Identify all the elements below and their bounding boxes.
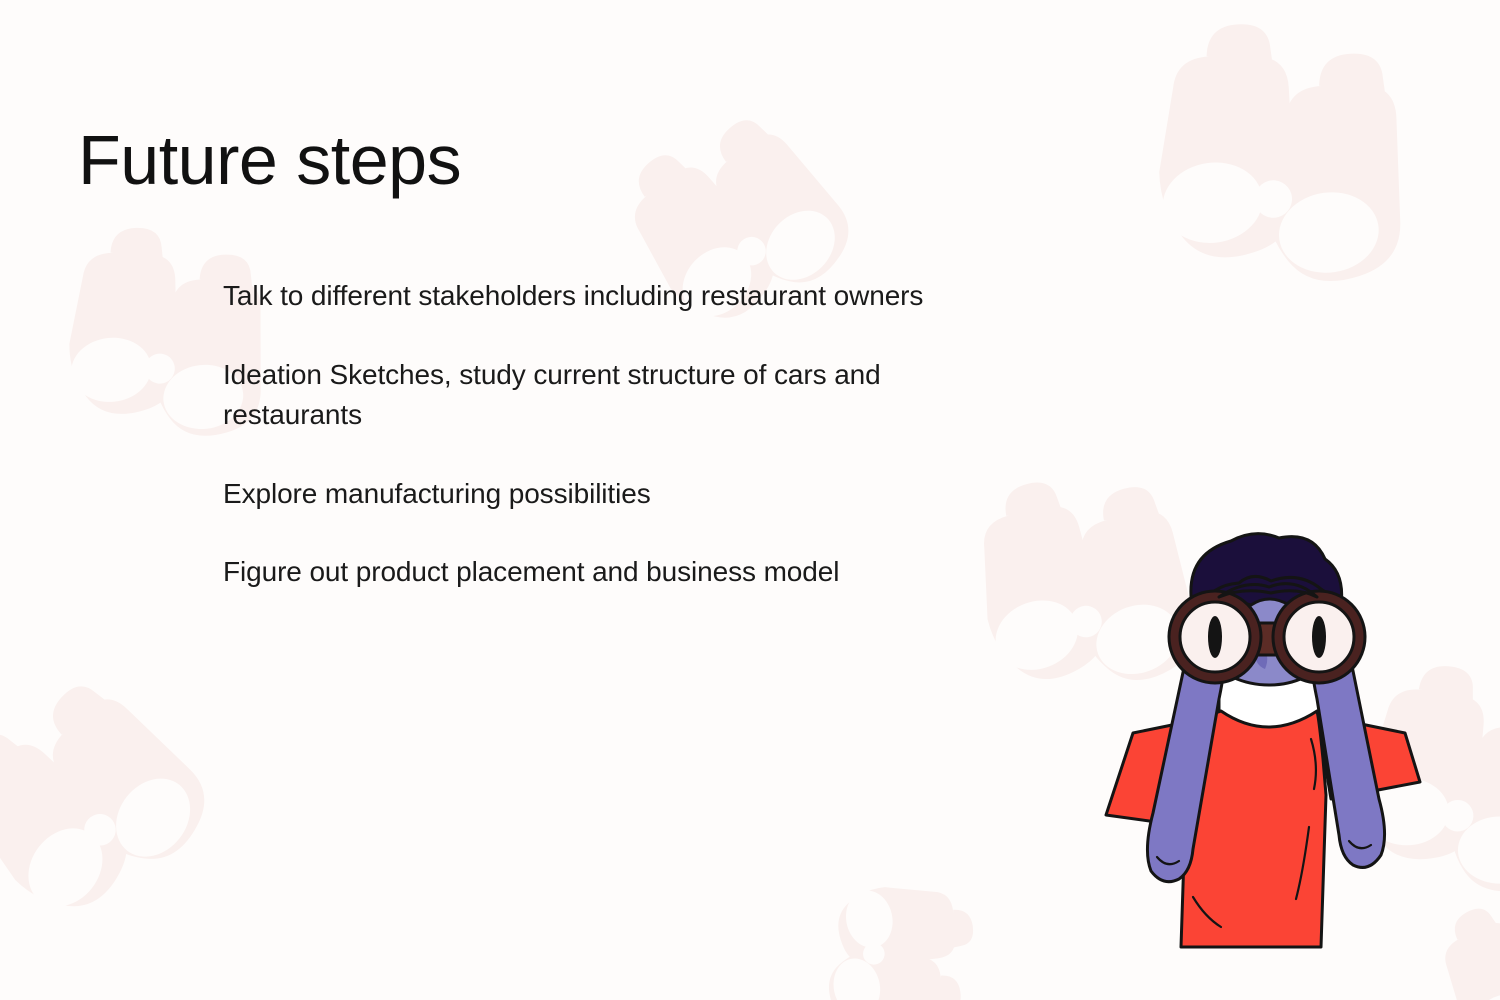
bullet-item: Figure out product placement and busines… (223, 552, 983, 593)
binocular-left-pupil (1208, 616, 1222, 658)
binocular-right-pupil (1312, 616, 1326, 658)
slide-canvas: Future steps Talk to different stakehold… (0, 0, 1500, 1000)
binoculars-watermark (0, 628, 267, 1000)
illustration-person-with-binoculars (1093, 527, 1443, 957)
bullet-item: Talk to different stakeholders including… (223, 276, 983, 317)
binoculars-watermark (1081, 0, 1438, 349)
bullet-item: Ideation Sketches, study current structu… (223, 355, 983, 436)
bullet-list: Talk to different stakeholders including… (223, 276, 983, 593)
binoculars-watermark (793, 848, 987, 1000)
page-title: Future steps (78, 125, 461, 196)
bullet-item: Explore manufacturing possibilities (223, 474, 983, 515)
